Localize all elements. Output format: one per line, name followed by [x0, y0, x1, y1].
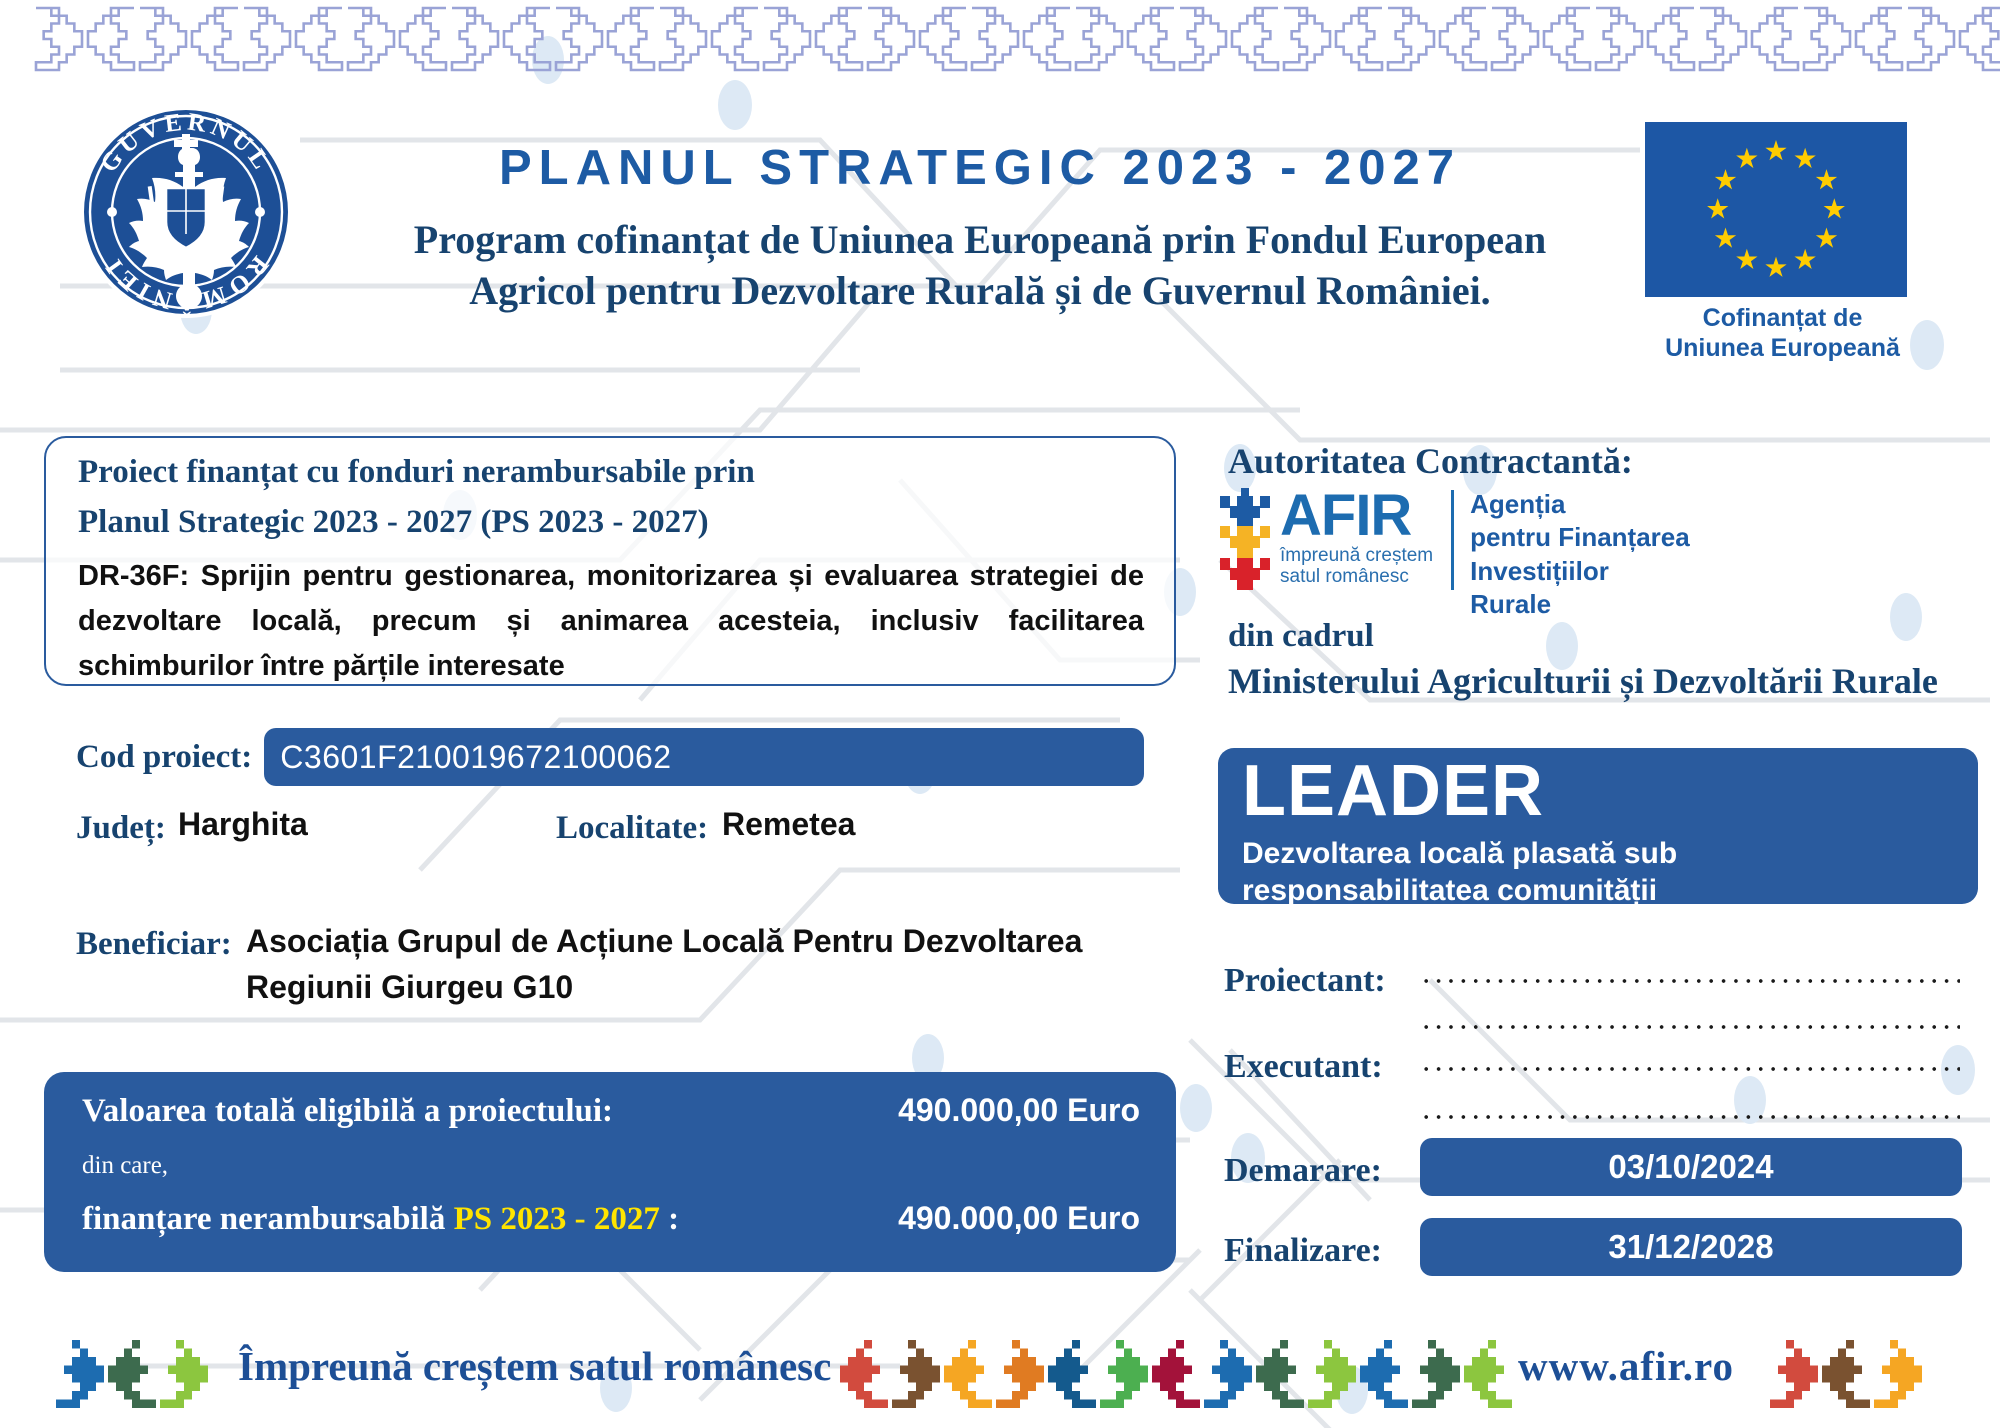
- agency-line-2: pentru Finanțarea: [1470, 522, 1690, 552]
- county-label: Județ:: [76, 810, 166, 847]
- ministry-name: Ministerului Agriculturii și Dezvoltării…: [1228, 660, 1938, 702]
- beneficiary-value: Asociația Grupul de Acțiune Locală Pentr…: [246, 918, 1146, 1011]
- project-value-box: Valoarea totală eligibilă a proiectului:…: [44, 1072, 1176, 1272]
- afir-slogan: împreună creștem satul românesc: [1280, 545, 1433, 588]
- designer-label: Proiectant:: [1224, 962, 1386, 1000]
- beneficiary-line-1: Asociația Grupul de Acțiune Locală Pentr…: [246, 923, 1082, 959]
- subtitle-line-1: Program cofinanțat de Uniunea Europeană …: [414, 217, 1546, 262]
- of-which-label: din care,: [82, 1152, 168, 1180]
- afir-divider: [1451, 490, 1454, 590]
- designer-dotted-line-2[interactable]: [1420, 1022, 1960, 1032]
- leader-box: LEADER Dezvoltarea locală plasată sub re…: [1218, 748, 1978, 904]
- within-label: din cadrul: [1228, 618, 1374, 655]
- romanian-government-seal: GUVERNUL ROMÂNIEI: [78, 104, 294, 320]
- grant-label-suffix: :: [660, 1201, 679, 1237]
- total-value-amount: 490.000,00 Euro: [898, 1092, 1140, 1129]
- locality-label: Localitate:: [556, 810, 708, 847]
- afir-slogan-line-2: satul românesc: [1280, 566, 1409, 587]
- leader-subtitle-line-1: Dezvoltarea locală plasată sub: [1242, 837, 1677, 870]
- beneficiary-line-2: Regiunii Giurgeu G10: [246, 964, 1146, 1010]
- locality-value: Remetea: [722, 806, 855, 843]
- eu-caption: Cofinanțat de Uniunea Europeană: [1645, 304, 1920, 363]
- project-code-label: Cod proiect:: [76, 739, 252, 776]
- grant-value-label: finanțare nerambursabilă PS 2023 - 2027 …: [82, 1201, 679, 1238]
- project-code-row: Cod proiect: C3601F210019672100062: [76, 728, 1144, 786]
- contractor-dotted-line-2[interactable]: [1420, 1112, 1960, 1122]
- funded-line-2: Planul Strategic 2023 - 2027 (PS 2023 - …: [78, 504, 709, 541]
- eu-emblem-block: Cofinanțat de Uniunea Europeană: [1645, 122, 1920, 363]
- end-date-value: 31/12/2028: [1608, 1228, 1773, 1266]
- designer-dotted-line-1[interactable]: [1420, 976, 1960, 986]
- subtitle-line-2: Agricol pentru Dezvoltare Rurală și de G…: [469, 268, 1490, 313]
- grant-value-row: finanțare nerambursabilă PS 2023 - 2027 …: [82, 1200, 1140, 1238]
- county-value: Harghita: [178, 806, 308, 843]
- contracting-authority-title: Autoritatea Contractantă:: [1228, 440, 1633, 482]
- page-title: PLANUL STRATEGIC 2023 - 2027: [340, 140, 1620, 196]
- leader-title: LEADER: [1242, 750, 1544, 832]
- afir-project-billboard: GUVERNUL ROMÂNIEI PLANUL STRATEGIC 2023 …: [0, 0, 2000, 1428]
- afir-slogan-line-1: împreună creștem: [1280, 545, 1433, 566]
- start-date-label: Demarare:: [1224, 1152, 1382, 1190]
- start-date-field: 03/10/2024: [1420, 1138, 1962, 1196]
- agency-line-4: Rurale: [1470, 589, 1551, 619]
- afir-wheat-icon: [1216, 488, 1274, 592]
- end-date-field: 31/12/2028: [1420, 1218, 1962, 1276]
- contractor-label: Executant:: [1224, 1048, 1383, 1086]
- measure-description: DR-36F: Sprijin pentru gestionarea, moni…: [78, 554, 1144, 689]
- grant-label-prefix: finanțare nerambursabilă: [82, 1201, 454, 1237]
- project-info-box: Proiect finanțat cu fonduri nerambursabi…: [44, 436, 1176, 686]
- leader-subtitle: Dezvoltarea locală plasată sub responsab…: [1242, 836, 1952, 909]
- page-subtitle: Program cofinanțat de Uniunea Europeană …: [340, 214, 1620, 316]
- afir-letters: AFIR: [1280, 488, 1433, 543]
- grant-value-amount: 490.000,00 Euro: [898, 1200, 1140, 1237]
- top-decorative-border: [0, 0, 2000, 78]
- agency-line-3: Investițiilor: [1470, 556, 1609, 586]
- afir-logo-block: AFIR împreună creștem satul românesc Age…: [1216, 488, 1690, 621]
- project-code-value: C3601F210019672100062: [280, 739, 671, 776]
- footer-slogan: Împreună creștem satul românesc: [238, 1342, 831, 1390]
- afir-wordmark: AFIR împreună creștem satul românesc: [1280, 488, 1433, 588]
- eu-caption-line-2: Uniunea Europeană: [1665, 334, 1900, 362]
- eu-flag-icon: [1645, 122, 1907, 297]
- total-value-label: Valoarea totală eligibilă a proiectului:: [82, 1093, 613, 1130]
- project-code-field: C3601F210019672100062: [264, 728, 1144, 786]
- funded-line-1: Proiect finanțat cu fonduri nerambursabi…: [78, 454, 755, 491]
- footer-url[interactable]: www.afir.ro: [1518, 1342, 1734, 1390]
- agency-line-1: Agenția: [1470, 489, 1565, 519]
- afir-agency-name: Agenția pentru Finanțarea Investițiilor …: [1470, 488, 1690, 621]
- start-date-value: 03/10/2024: [1608, 1148, 1773, 1186]
- total-value-row: Valoarea totală eligibilă a proiectului:…: [82, 1092, 1140, 1130]
- beneficiary-label: Beneficiar:: [76, 926, 232, 963]
- eu-caption-line-1: Cofinanțat de: [1703, 304, 1863, 332]
- grant-label-highlight: PS 2023 - 2027: [454, 1201, 660, 1237]
- contractor-dotted-line-1[interactable]: [1420, 1064, 1960, 1074]
- end-date-label: Finalizare:: [1224, 1232, 1382, 1270]
- header-text-block: PLANUL STRATEGIC 2023 - 2027 Program cof…: [340, 140, 1620, 316]
- leader-subtitle-line-2: responsabilitatea comunității: [1242, 874, 1657, 907]
